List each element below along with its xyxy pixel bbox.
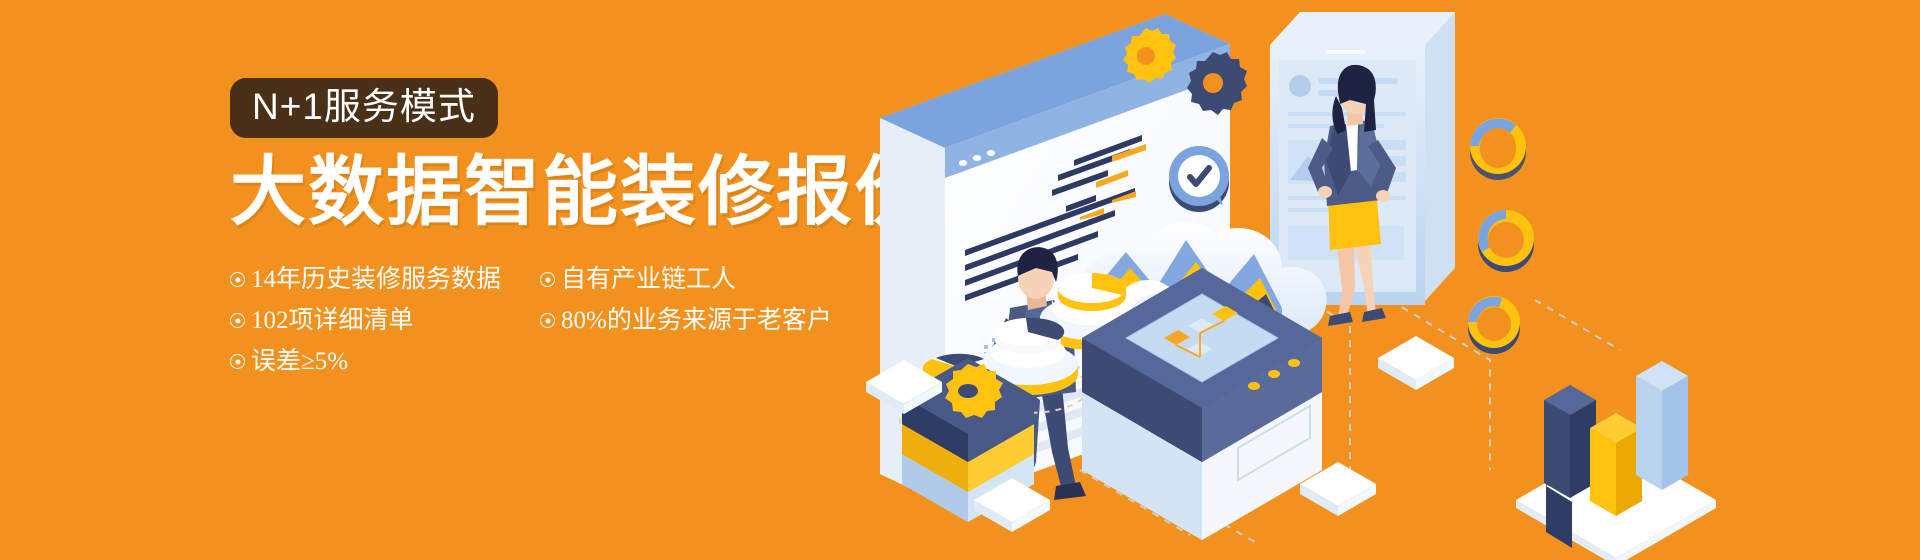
list-item-label: 14年历史装修服务数据 (251, 259, 501, 300)
feature-list: 14年历史装修服务数据 自有产业链工人 102项详细清单 80%的业务来源于老客… (230, 259, 910, 382)
page-title: 大数据智能装修报价 (230, 155, 910, 231)
list-item: 102项详细清单 (230, 300, 540, 341)
service-model-badge: N+1服务模式 (230, 78, 498, 138)
circle-dot-icon (540, 272, 555, 287)
donut-ring-1 (1470, 118, 1526, 180)
floating-tile-3 (1378, 336, 1454, 390)
list-item: 14年历史装修服务数据 (230, 259, 540, 300)
donut-ring-3 (1468, 296, 1520, 354)
copy-block: N+1服务模式 大数据智能装修报价 14年历史装修服务数据 自有产业链工人 10… (230, 78, 910, 382)
list-item: 误差≥5% (230, 341, 540, 382)
list-item-label: 自有产业链工人 (561, 259, 736, 300)
bar-chart-3d (1516, 361, 1716, 560)
circle-dot-icon (540, 313, 555, 328)
check-badge (1169, 146, 1229, 212)
circle-dot-icon (230, 313, 245, 328)
list-item-label: 102项详细清单 (251, 300, 414, 341)
promo-banner: N+1服务模式 大数据智能装修报价 14年历史装修服务数据 自有产业链工人 10… (0, 0, 1920, 560)
circle-dot-icon (230, 272, 245, 287)
donut-ring-2 (1478, 210, 1534, 272)
big-data-isometric-illustration (830, 0, 1920, 560)
circle-dot-icon (230, 354, 245, 369)
list-item-label: 误差≥5% (251, 341, 348, 382)
list-item-label: 80%的业务来源于老客户 (561, 300, 832, 341)
